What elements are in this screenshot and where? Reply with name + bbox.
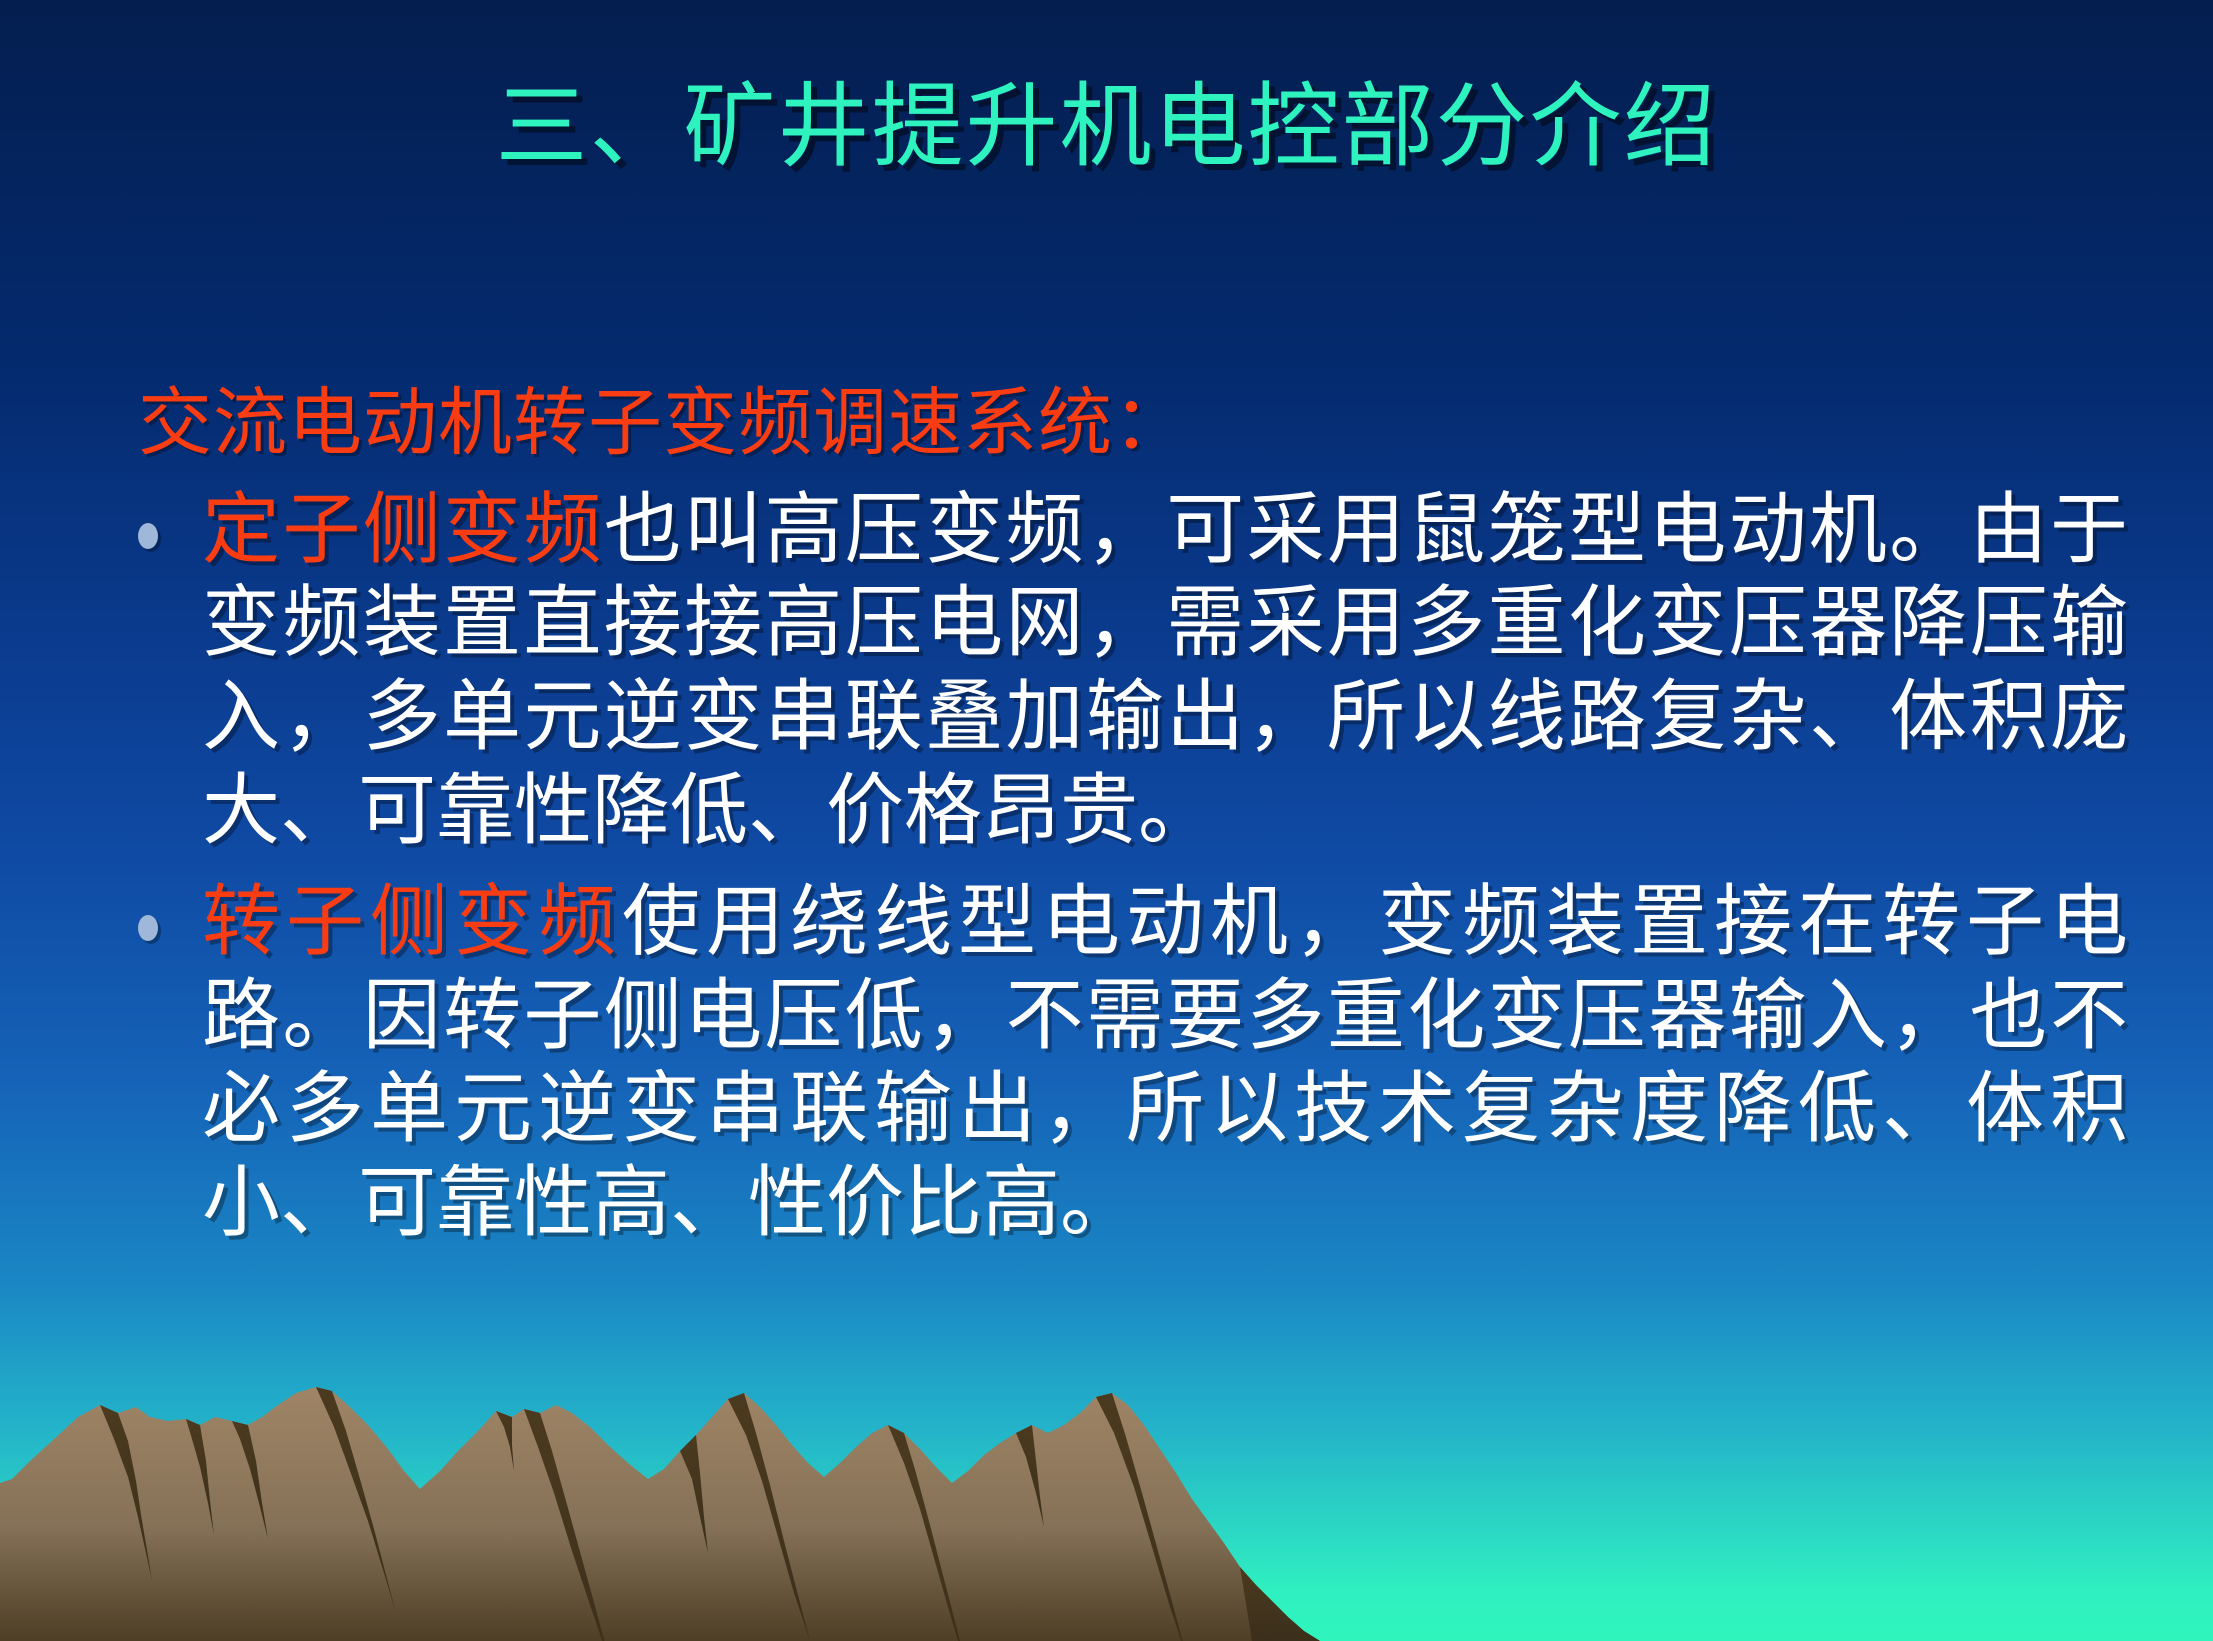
bullet-highlight-term: 定子侧变频: [202, 486, 604, 573]
section-subtitle: 交流电动机转子变频调速系统：: [138, 380, 2128, 469]
page-title: 三、矿井提升机电控部分介绍: [0, 78, 2213, 177]
presentation-slide: 三、矿井提升机电控部分介绍 交流电动机转子变频调速系统： 定子侧变频也叫高压变频…: [0, 0, 2213, 1641]
mountain-scenery-graphic: [0, 1321, 2213, 1641]
bullet-dot-icon: [138, 915, 158, 941]
bullet-dot-icon: [138, 523, 158, 549]
list-item: 转子侧变频使用绕线型电动机，变频装置接在转子电路。因转子侧电压低，不需要多重化变…: [118, 875, 2128, 1249]
slide-body: 交流电动机转子变频调速系统： 定子侧变频也叫高压变频，可采用鼠笼型电动机。由于变…: [118, 380, 2128, 1268]
bullet-highlight-term: 转子侧变频: [202, 878, 622, 965]
list-item: 定子侧变频也叫高压变频，可采用鼠笼型电动机。由于变频装置直接接高压电网，需采用多…: [118, 483, 2128, 857]
